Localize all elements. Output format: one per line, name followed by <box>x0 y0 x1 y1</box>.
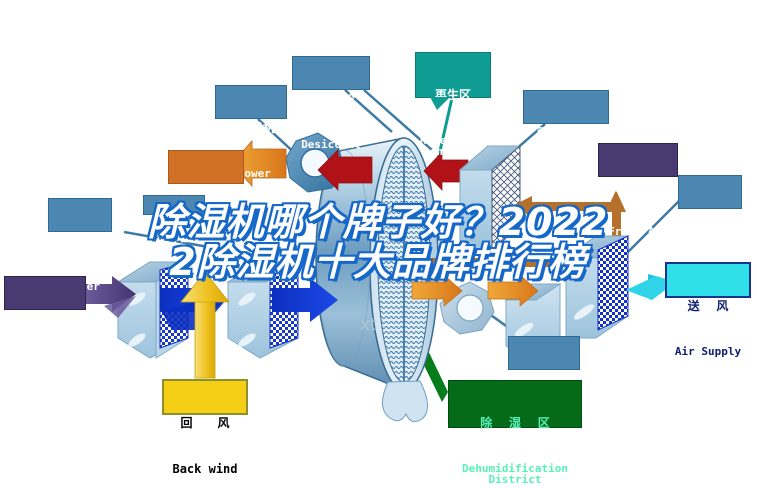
label-dehumidification-district-en: Dehumidification District <box>449 463 581 486</box>
label-blower-regen-cn: 再生风机 <box>216 122 286 135</box>
label-regen-heater[interactable]: 再生加热器 heater <box>523 90 609 124</box>
label-regen-heater-cn: 再生加热器 <box>524 127 608 140</box>
label-fresh-air-left-en: Fresh Air <box>5 359 85 371</box>
label-exhaust[interactable]: 再生风出 Exhaust <box>168 150 244 184</box>
label-desiccant-rotor-cn: 除湿转轮 <box>293 93 369 106</box>
label-cooler-right-cn: 冷却器 <box>679 212 741 225</box>
label-fresh-air-left[interactable]: 新 风 Fresh Air <box>4 276 86 310</box>
label-air-supply-en: Air Supply <box>667 346 749 358</box>
label-cooler-left[interactable]: 冷却器 Cooler <box>48 198 112 232</box>
watermark-text: xt <box>360 315 377 335</box>
label-dehumidification-district[interactable]: 除 湿 区 Dehumidification District <box>448 380 582 428</box>
label-back-wind-cn: 回 风 <box>164 417 246 430</box>
schematic-image: xt <box>0 0 757 488</box>
label-back-wind-en: Back wind <box>164 463 246 476</box>
label-fresh-air-regen-cn: 再生风进 <box>599 180 677 193</box>
label-regeneration-area-en: Regenerati on Area <box>416 135 490 158</box>
label-back-wind[interactable]: 回 风 Back wind <box>162 379 248 415</box>
label-regeneration-area[interactable]: 再生区 Regenerati on Area <box>415 52 491 98</box>
label-dehumidification-district-cn: 除 湿 区 <box>449 417 581 430</box>
label-air-supply[interactable]: 送 风 Air Supply <box>665 262 751 298</box>
label-air-supply-cn: 送 风 <box>667 300 749 313</box>
label-cooler-mid[interactable]: 冷却器 <box>143 195 205 215</box>
label-fresh-air-left-cn: 新 风 <box>5 313 85 326</box>
label-desiccant-rotor-en: Desiccant <box>293 139 369 151</box>
label-desiccant-rotor[interactable]: 除湿转轮 Desiccant <box>292 56 370 90</box>
label-cooler-mid-cn: 冷却器 <box>144 231 204 244</box>
label-cooler-left-cn: 冷却器 <box>49 235 111 248</box>
label-fresh-air-regen[interactable]: 再生风进 Fresh Air <box>598 143 678 177</box>
label-regeneration-area-cn: 再生区 <box>416 89 490 102</box>
label-blower-dehumid[interactable]: 除湿风机 Blower <box>508 336 580 370</box>
label-cooler-right[interactable]: 冷却器 Cooler <box>678 175 742 209</box>
label-blower-regen[interactable]: 再生风机 Blower <box>215 85 287 119</box>
label-regen-heater-en: heater <box>524 173 608 185</box>
label-fresh-air-regen-en: Fresh Air <box>599 226 677 238</box>
